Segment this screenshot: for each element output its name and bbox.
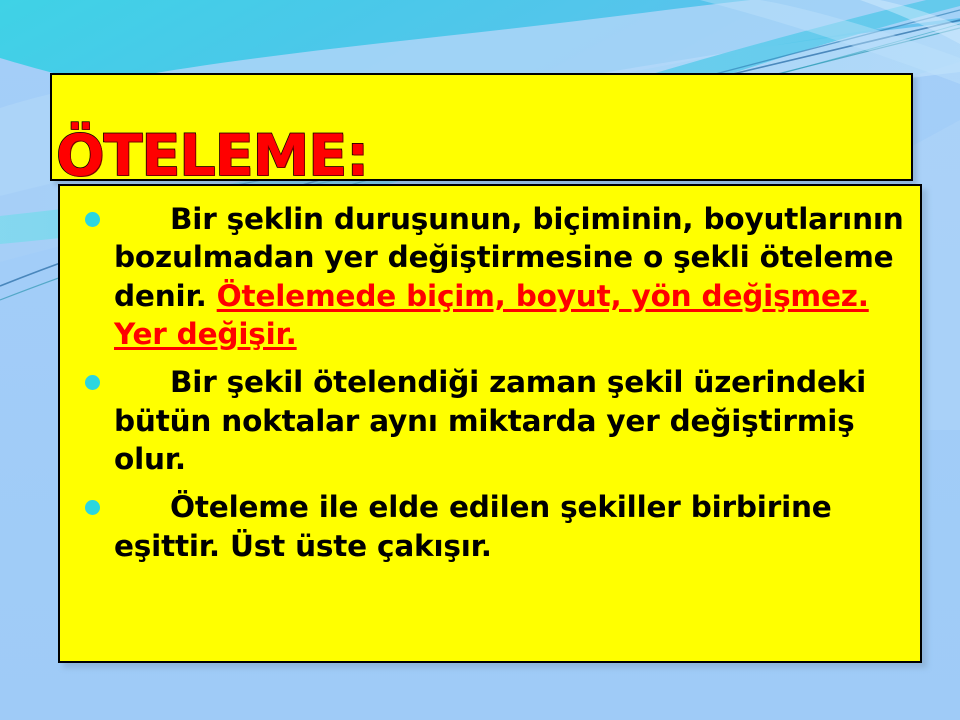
title-panel: ÖTELEME: — [50, 73, 913, 181]
bullet-dot-icon — [85, 212, 100, 227]
bullet-dot-icon — [85, 500, 100, 515]
content-panel: Bir şeklin duruşunun, biçiminin, boyutla… — [58, 184, 922, 663]
bullet-dot-icon — [85, 375, 100, 390]
bullet-3-text-plain: Öteleme ile elde edilen şekiller birbiri… — [114, 490, 832, 562]
bullet-list: Bir şeklin duruşunun, biçiminin, boyutla… — [76, 200, 904, 565]
bullet-2-text-plain: Bir şekil ötelendiği zaman şekil üzerind… — [114, 365, 866, 476]
bullet-1-text-highlight: Ötelemede biçim, boyut, yön değişmez. Ye… — [114, 279, 869, 351]
list-item: Bir şekil ötelendiği zaman şekil üzerind… — [76, 363, 904, 478]
page-title: ÖTELEME: — [56, 128, 368, 185]
list-item: Bir şeklin duruşunun, biçiminin, boyutla… — [76, 200, 904, 353]
slide-canvas: ÖTELEME: Bir şeklin duruşunun, biçiminin… — [0, 0, 960, 720]
list-item: Öteleme ile elde edilen şekiller birbiri… — [76, 488, 904, 565]
